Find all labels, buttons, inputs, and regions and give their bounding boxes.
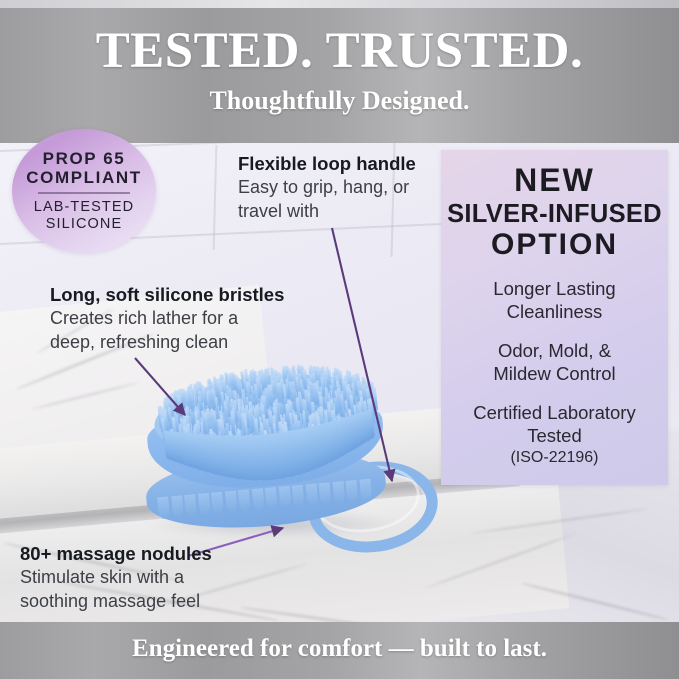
header-top-strip xyxy=(0,0,679,8)
arrow-to-loop-handle xyxy=(332,228,392,481)
panel-silver-infused-label: SILVER-INFUSED xyxy=(447,200,662,228)
callout-silicone-bristles: Long, soft silicone bristles Creates ric… xyxy=(50,283,284,355)
prop65-badge: PROP 65 COMPLIANT LAB-TESTED SILICONE xyxy=(12,129,156,253)
callout-title: 80+ massage nodules xyxy=(20,542,212,565)
panel-new-label: NEW xyxy=(514,164,595,198)
footer-tagline: Engineered for comfort — built to last. xyxy=(0,636,679,661)
badge-line-2: COMPLIANT xyxy=(26,168,141,187)
page-headline: TESTED. TRUSTED. xyxy=(0,26,679,77)
panel-benefit-2: Odor, Mold, &Mildew Control xyxy=(485,340,623,385)
panel-option-label: OPTION xyxy=(491,229,618,261)
badge-divider xyxy=(38,192,130,194)
callout-title: Flexible loop handle xyxy=(238,152,416,175)
panel-benefit-1: Longer LastingCleanliness xyxy=(485,278,623,323)
callout-flexible-loop-handle: Flexible loop handle Easy to grip, hang,… xyxy=(238,152,416,224)
panel-benefit-3: Certified LaboratoryTested xyxy=(465,402,643,447)
silver-infused-panel: NEW SILVER-INFUSED OPTION Longer Lasting… xyxy=(441,150,668,485)
panel-iso-note: (ISO-22196) xyxy=(510,448,598,467)
callout-body: Easy to grip, hang, ortravel with xyxy=(238,176,416,224)
callout-body: Creates rich lather for adeep, refreshin… xyxy=(50,307,284,355)
callout-title: Long, soft silicone bristles xyxy=(50,283,284,306)
infographic-canvas: TESTED. TRUSTED. Thoughtfully Designed. … xyxy=(0,0,679,679)
badge-line-1: PROP 65 xyxy=(43,149,126,168)
badge-line-3: LAB-TESTED xyxy=(34,199,134,216)
callout-massage-nodules: 80+ massage nodules Stimulate skin with … xyxy=(20,542,212,614)
page-subheadline: Thoughtfully Designed. xyxy=(0,88,679,114)
callout-body: Stimulate skin with asoothing massage fe… xyxy=(20,566,212,614)
arrow-to-bristles xyxy=(135,358,185,415)
badge-line-4: SILICONE xyxy=(46,216,123,233)
